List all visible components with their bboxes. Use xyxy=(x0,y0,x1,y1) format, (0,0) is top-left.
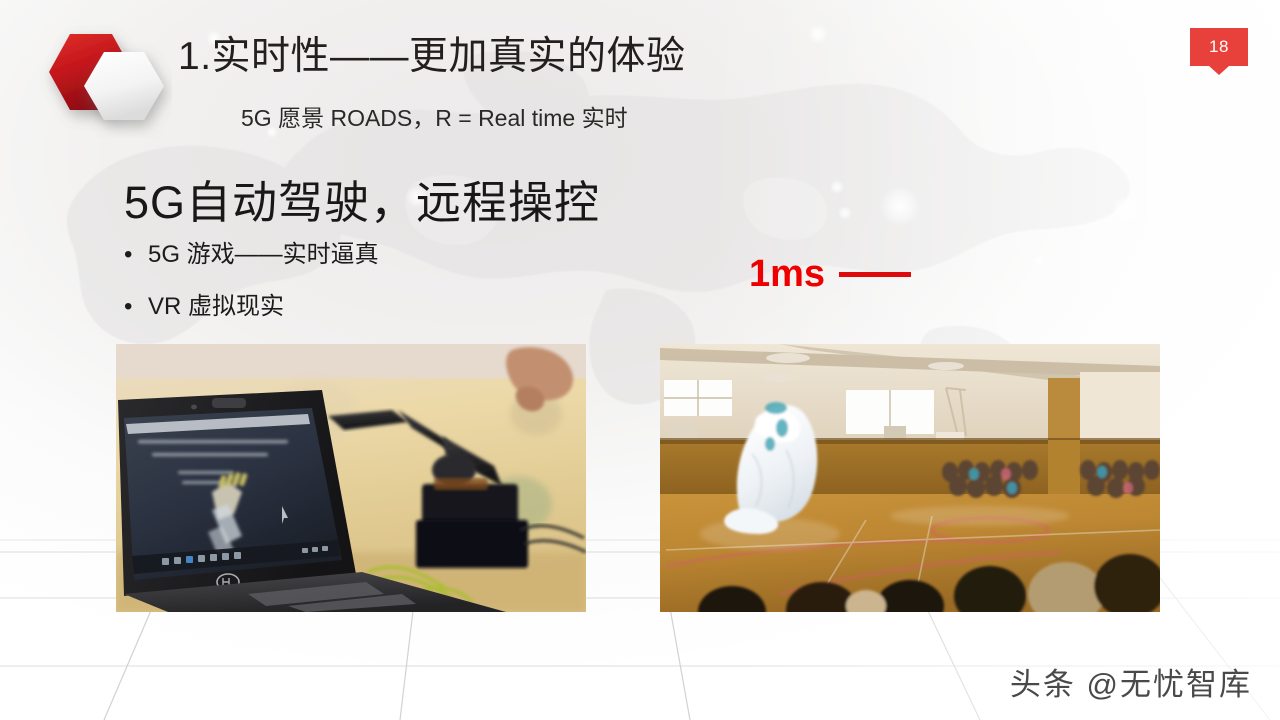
list-item: • VR 虚拟现实 xyxy=(124,286,379,321)
page-number-badge: 18 xyxy=(1190,28,1248,66)
footer-watermark: 头条 @无忧智库 xyxy=(1010,659,1252,704)
bullet-marker-icon: • xyxy=(124,293,148,321)
list-item-label: 5G 游戏——实时逼真 xyxy=(148,234,379,269)
bullet-marker-icon: • xyxy=(124,241,148,269)
latency-callout: 1ms xyxy=(749,253,911,296)
page-subtitle: 5G 愿景 ROADS，R = Real time 实时 xyxy=(241,99,628,133)
hexagon-logo xyxy=(26,14,172,138)
robot-arm-teleoperation-photo xyxy=(116,344,586,612)
list-item-label: VR 虚拟现实 xyxy=(148,286,284,321)
latency-dash-icon xyxy=(839,272,911,277)
main-heading: 5G自动驾驶，远程操控 xyxy=(124,166,600,231)
slide-18: 18 1.实时性——更加真实的体验 5G 愿景 ROADS，R = Real t… xyxy=(0,0,1280,720)
latency-value: 1ms xyxy=(749,253,825,296)
gymnasium-vr-photo xyxy=(660,344,1160,612)
bullet-list: • 5G 游戏——实时逼真 • VR 虚拟现实 xyxy=(124,234,379,338)
list-item: • 5G 游戏——实时逼真 xyxy=(124,234,379,269)
page-title: 1.实时性——更加真实的体验 xyxy=(178,36,686,79)
